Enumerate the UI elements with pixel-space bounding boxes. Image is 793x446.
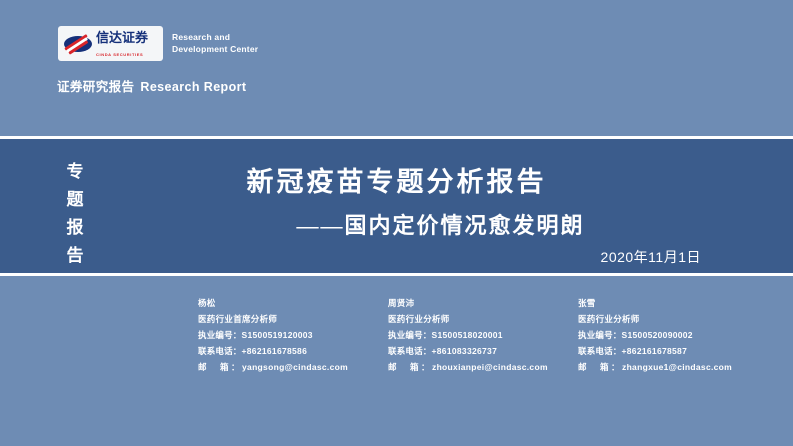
- analyst-phone-label: 联系电话：: [388, 346, 432, 356]
- analyst-name: 周贤沛: [388, 296, 578, 311]
- page-subtitle: ——国内定价情况愈发明朗: [0, 208, 793, 240]
- research-center-line-2: Development Center: [172, 43, 258, 55]
- analyst-phone-label: 联系电话：: [198, 346, 242, 356]
- analyst-license: 执业编号：S1500518020001: [388, 327, 578, 343]
- report-date: 2020年11月1日: [601, 247, 701, 267]
- analyst-license: 执业编号：S1500520090002: [578, 327, 773, 343]
- analyst-email-label: 邮 箱：: [578, 362, 622, 372]
- analyst-phone-label: 联系电话：: [578, 346, 622, 356]
- analyst-email[interactable]: 邮 箱：zhangxue1@cindasc.com: [578, 359, 773, 375]
- analyst-email-value[interactable]: zhouxianpei@cindasc.com: [432, 362, 548, 372]
- analyst-license-label: 执业编号：: [578, 330, 622, 340]
- analyst-email[interactable]: 邮 箱：yangsong@cindasc.com: [198, 359, 388, 375]
- cinda-logo-mark: [63, 34, 93, 54]
- analyst-email-value[interactable]: zhangxue1@cindasc.com: [622, 362, 732, 372]
- logo-brand-cn: 信达证券: [96, 31, 148, 44]
- analyst-email-label: 邮 箱：: [198, 362, 242, 372]
- analyst-phone-value: +862161678587: [622, 346, 688, 356]
- analyst-email-label: 邮 箱：: [388, 362, 432, 372]
- analyst-name: 张雪: [578, 296, 773, 311]
- research-center-label: Research and Development Center: [172, 31, 258, 55]
- analyst-email-value[interactable]: yangsong@cindasc.com: [242, 362, 348, 372]
- analyst-list: 杨松 医药行业首席分析师 执业编号：S1500519120003 联系电话：+8…: [0, 296, 793, 375]
- analyst-card: 杨松 医药行业首席分析师 执业编号：S1500519120003 联系电话：+8…: [198, 296, 388, 375]
- report-type-cn: 证券研究报告: [57, 80, 134, 94]
- analyst-license-label: 执业编号：: [388, 330, 432, 340]
- research-center-line-1: Research and: [172, 31, 258, 43]
- analyst-license-value: S1500520090002: [622, 330, 693, 340]
- logo-brand-en: CINDA SECURITIES: [96, 53, 148, 57]
- company-logo: 信达证券 CINDA SECURITIES: [58, 26, 163, 61]
- analyst-name: 杨松: [198, 296, 388, 311]
- analyst-card: 周贤沛 医药行业分析师 执业编号：S1500518020001 联系电话：+86…: [388, 296, 578, 375]
- analyst-phone: 联系电话：+862161678586: [198, 343, 388, 359]
- analyst-phone: 联系电话：+861083326737: [388, 343, 578, 359]
- spine-char-3: 告: [60, 242, 90, 270]
- analyst-license-label: 执业编号：: [198, 330, 242, 340]
- analyst-phone-value: +861083326737: [432, 346, 498, 356]
- header-band: [0, 0, 793, 136]
- analyst-role: 医药行业分析师: [388, 311, 578, 327]
- analyst-card: 张雪 医药行业分析师 执业编号：S1500520090002 联系电话：+862…: [578, 296, 773, 375]
- analyst-role: 医药行业分析师: [578, 311, 773, 327]
- analyst-phone: 联系电话：+862161678587: [578, 343, 773, 359]
- analyst-email[interactable]: 邮 箱：zhouxianpei@cindasc.com: [388, 359, 578, 375]
- report-type-en: Research Report: [140, 80, 246, 94]
- analyst-phone-value: +862161678586: [242, 346, 308, 356]
- report-type-label: 证券研究报告Research Report: [57, 76, 246, 95]
- analyst-license: 执业编号：S1500519120003: [198, 327, 388, 343]
- analyst-role: 医药行业首席分析师: [198, 311, 388, 327]
- analyst-license-value: S1500518020001: [432, 330, 503, 340]
- analyst-license-value: S1500519120003: [242, 330, 313, 340]
- page-title: 新冠疫苗专题分析报告: [0, 160, 793, 199]
- cover-slide: 信达证券 CINDA SECURITIES Research and Devel…: [0, 0, 793, 446]
